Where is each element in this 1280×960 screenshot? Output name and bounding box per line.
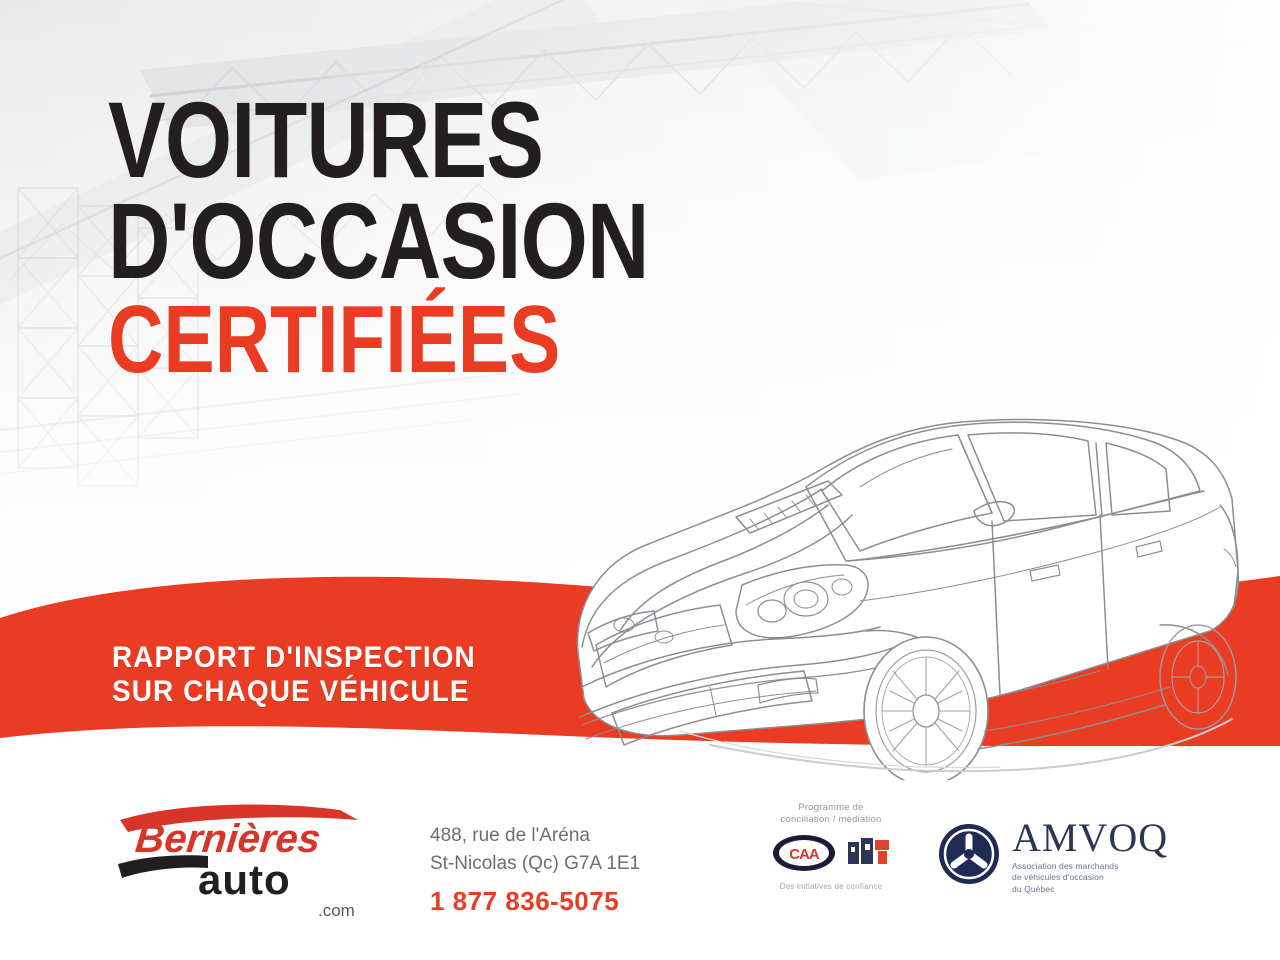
caa-caption-line-2: conciliation / médiation <box>746 814 916 826</box>
dealer-logo-domain: .com <box>318 901 355 920</box>
car-line-drawing <box>560 395 1260 795</box>
caa-caption: Programme de conciliation / médiation <box>746 802 916 827</box>
svg-text:CAA: CAA <box>789 846 820 863</box>
headline-block: VOITURES D'OCCASION CERTIFIÉES <box>108 92 784 383</box>
caa-icon: CAA <box>771 833 837 878</box>
amvoq-subtitle: Association des marchands de véhicules d… <box>1012 861 1168 895</box>
footer-bar: Bernières auto .com 488, rue de l'Aréna … <box>0 780 1280 960</box>
caa-footnote: Des initiatives de confiance <box>746 882 916 891</box>
amvoq-block: AMVOQ Association des marchands de véhic… <box>938 818 1168 895</box>
dealer-address-block: 488, rue de l'Aréna St-Nicolas (Qc) G7A … <box>430 822 640 921</box>
amvoq-sub-line-2: de véhicules d'occasion <box>1012 872 1168 883</box>
address-street: 488, rue de l'Aréna <box>430 822 640 850</box>
phone-number[interactable]: 1 877 836-5075 <box>430 883 640 921</box>
caa-program-block: Programme de conciliation / médiation CA… <box>746 802 916 917</box>
advertisement-banner: VOITURES D'OCCASION CERTIFIÉES RAPPORT D… <box>0 0 1280 960</box>
amvoq-wordmark: AMVOQ <box>1012 815 1168 860</box>
address-city: St-Nicolas (Qc) G7A 1E1 <box>430 850 640 878</box>
caa-caption-line-1: Programme de <box>746 802 916 814</box>
ipt-partner-icon <box>847 836 891 875</box>
headline-line-2: D'OCCASION <box>108 193 649 288</box>
banner-line-1: RAPPORT D'INSPECTION <box>112 641 476 675</box>
caa-logo-row: CAA <box>746 833 916 878</box>
amvoq-text: AMVOQ Association des marchands de véhic… <box>1012 818 1168 895</box>
amvoq-sub-line-1: Association des marchands <box>1012 861 1168 872</box>
headline-line-3-certified: CERTIFIÉES <box>108 298 649 382</box>
dealer-logo-name-top: Bernières <box>133 817 322 861</box>
banner-line-2: SUR CHAQUE VÉHICULE <box>112 675 476 709</box>
headline-line-1: VOITURES <box>108 92 649 187</box>
dealer-logo-name-bottom: auto <box>198 856 291 903</box>
amvoq-sub-line-3: du Québec <box>1012 884 1168 895</box>
dealer-logo[interactable]: Bernières auto .com <box>112 798 392 928</box>
inspection-banner-text: RAPPORT D'INSPECTION SUR CHAQUE VÉHICULE <box>112 641 476 709</box>
amvoq-icon <box>938 823 1000 890</box>
